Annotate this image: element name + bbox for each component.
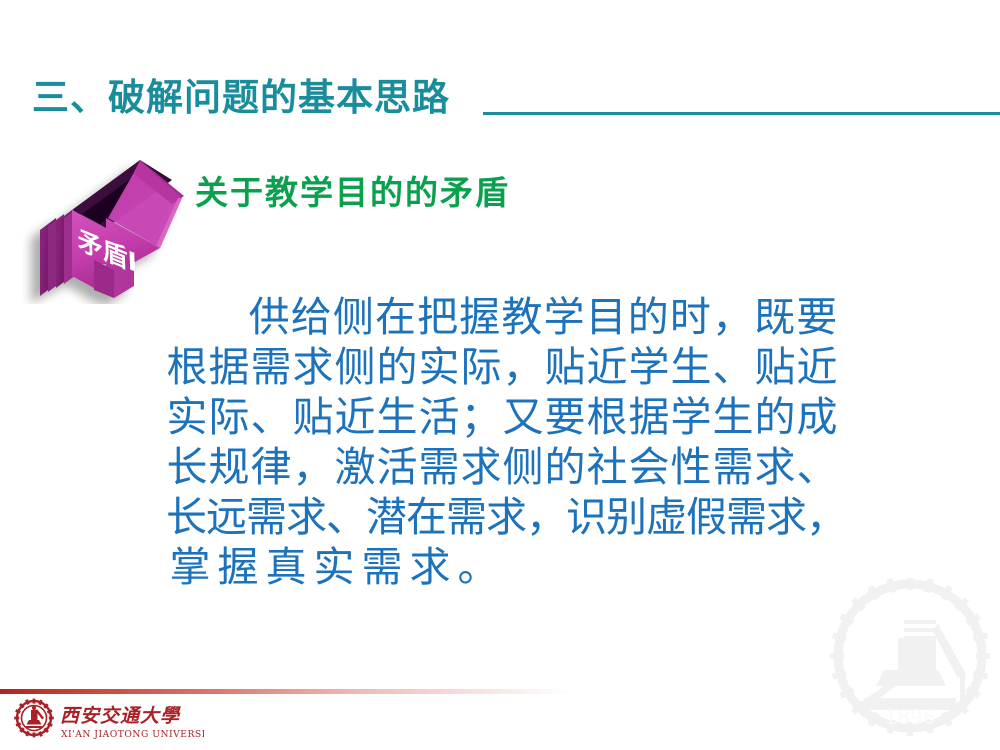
body-line: 长远需求、潜在需求，识别虚假需求，	[166, 492, 838, 542]
slide-canvas: 1896 三、破解问题的基本思路	[0, 0, 1000, 750]
body-line: 实际、贴近生活；又要根据学生的成	[166, 392, 838, 442]
xjtu-watermark: 1896	[826, 578, 994, 750]
body-line: 根据需求侧的实际，贴近学生、贴近	[166, 342, 838, 392]
body-line: 掌握真实需求。	[166, 542, 838, 592]
title-underline-rule	[483, 112, 1000, 115]
university-logo: 西安交通大學 XI'AN JIAOTONG UNIVERSITY	[8, 698, 204, 744]
body-paragraph: 供给侧在把握教学目的时，既要 根据需求侧的实际，贴近学生、贴近 实际、贴近生活；…	[166, 292, 838, 592]
section-subheading: 关于教学目的的矛盾	[195, 172, 510, 214]
footer-divider	[0, 689, 620, 694]
watermark-year: 1896	[885, 705, 936, 729]
page-title-row: 三、破解问题的基本思路	[0, 76, 1000, 124]
page-title: 三、破解问题的基本思路	[32, 76, 450, 120]
university-name-en: XI'AN JIAOTONG UNIVERSITY	[61, 729, 204, 740]
university-name-cn: 西安交通大學	[60, 705, 181, 727]
body-line: 供给侧在把握教学目的时，既要	[166, 292, 838, 342]
body-line: 长规律，激活需求侧的社会性需求、	[166, 442, 838, 492]
right-arrow-3d-icon: 矛盾I	[22, 152, 194, 304]
